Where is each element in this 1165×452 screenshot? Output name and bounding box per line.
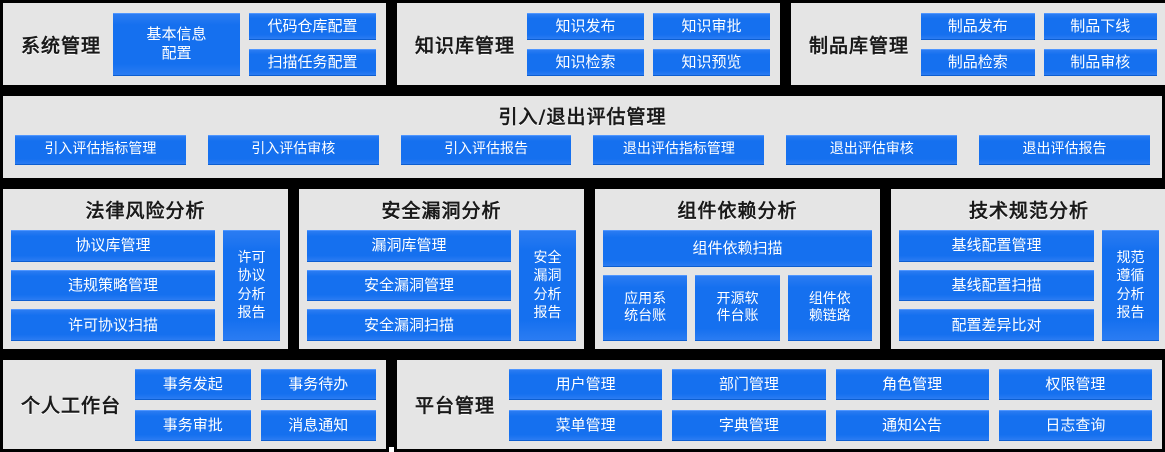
panel-artifact-repository-management: 制品库管理 制品发布 制品检索 制品下线 制品审核	[788, 0, 1165, 88]
button-column-workbench-1: 事务发起 事务审批	[135, 369, 251, 441]
button-column-platform-2: 部门管理 字典管理	[672, 369, 825, 441]
button-user-management[interactable]: 用户管理	[509, 369, 662, 400]
button-intro-eval-report[interactable]: 引入评估报告	[401, 135, 572, 165]
panel-intro-exit-evaluation-management: 引入/退出评估管理 引入评估指标管理 引入评估审核 引入评估报告 退出评估指标管…	[0, 93, 1165, 181]
button-column-system-management: 代码仓库配置 扫描任务配置	[249, 13, 376, 76]
button-task-approval[interactable]: 事务审批	[135, 410, 251, 441]
button-column-platform-3: 角色管理 通知公告	[836, 369, 989, 441]
button-column-artifact-1: 制品发布 制品检索	[921, 13, 1035, 76]
button-knowledge-approval[interactable]: 知识审批	[653, 13, 770, 40]
button-group-system-management: 基本信息 配置 代码仓库配置 扫描任务配置	[113, 13, 376, 76]
button-column-platform-4: 权限管理 日志查询	[999, 369, 1152, 441]
button-group-legal-risk: 协议库管理 违规策略管理 许可协议扫描	[11, 230, 215, 341]
button-group-personal-workbench: 事务发起 事务审批 事务待办 消息通知	[135, 369, 376, 441]
side-security-vulnerability: 安全 漏洞 分析 报告	[519, 230, 576, 341]
button-group-security-vulnerability: 漏洞库管理 安全漏洞管理 安全漏洞扫描	[307, 230, 511, 341]
button-exit-eval-report[interactable]: 退出评估报告	[979, 135, 1150, 165]
button-component-dependency-scan[interactable]: 组件依赖扫描	[603, 230, 872, 267]
button-dictionary-management[interactable]: 字典管理	[672, 410, 825, 441]
button-security-vulnerability-management[interactable]: 安全漏洞管理	[307, 270, 511, 302]
button-intro-eval-review[interactable]: 引入评估审核	[208, 135, 379, 165]
panel-platform-management: 平台管理 用户管理 菜单管理 部门管理 字典管理 角色管理 通知公告 权限管理 …	[394, 357, 1165, 452]
panel-security-vulnerability-analysis: 安全漏洞分析 漏洞库管理 安全漏洞管理 安全漏洞扫描 安全 漏洞 分析 报告	[296, 186, 587, 352]
button-specification-compliance-analysis-report[interactable]: 规范 遵循 分析 报告	[1102, 230, 1159, 341]
button-permission-management[interactable]: 权限管理	[999, 369, 1152, 400]
button-group-platform-management: 用户管理 菜单管理 部门管理 字典管理 角色管理 通知公告 权限管理 日志查询	[509, 369, 1152, 441]
button-role-management[interactable]: 角色管理	[836, 369, 989, 400]
panel-personal-workbench: 个人工作台 事务发起 事务审批 事务待办 消息通知	[0, 357, 389, 452]
button-artifact-audit[interactable]: 制品审核	[1044, 49, 1158, 76]
button-group-component-ledgers: 应用系 统台账 开源软 件台账 组件依 赖链路	[603, 275, 872, 341]
panel-title-intro-exit-evaluation-management: 引入/退出评估管理	[11, 102, 1154, 129]
panel-technical-specification-analysis: 技术规范分析 基线配置管理 基线配置扫描 配置差异比对 规范 遵循 分析 报告	[888, 186, 1165, 352]
button-baseline-config-management[interactable]: 基线配置管理	[899, 230, 1094, 262]
button-artifact-publish[interactable]: 制品发布	[921, 13, 1035, 40]
panel-knowledge-base-management: 知识库管理 知识发布 知识检索 知识审批 知识预览	[394, 0, 783, 88]
body-component-dependency-analysis: 组件依赖扫描 应用系 统台账 开源软 件台账 组件依 赖链路	[603, 230, 872, 341]
button-license-analysis-report[interactable]: 许可 协议 分析 报告	[223, 230, 280, 341]
button-column-knowledge-1: 知识发布 知识检索	[527, 13, 644, 76]
panel-title-security-vulnerability-analysis: 安全漏洞分析	[307, 196, 576, 223]
button-menu-management[interactable]: 菜单管理	[509, 410, 662, 441]
button-security-vulnerability-scan[interactable]: 安全漏洞扫描	[307, 309, 511, 341]
button-knowledge-publish[interactable]: 知识发布	[527, 13, 644, 40]
row-analysis: 法律风险分析 协议库管理 违规策略管理 许可协议扫描 许可 协议 分析 报告 安…	[0, 186, 1165, 352]
button-task-todo[interactable]: 事务待办	[261, 369, 377, 400]
button-department-management[interactable]: 部门管理	[672, 369, 825, 400]
button-group-intro-exit-evaluation: 引入评估指标管理 引入评估审核 引入评估报告 退出评估指标管理 退出评估审核 退…	[11, 135, 1154, 165]
button-security-vulnerability-analysis-report[interactable]: 安全 漏洞 分析 报告	[519, 230, 576, 341]
body-legal-risk-analysis: 协议库管理 违规策略管理 许可协议扫描 许可 协议 分析 报告	[11, 230, 280, 341]
button-task-initiate[interactable]: 事务发起	[135, 369, 251, 400]
button-knowledge-preview[interactable]: 知识预览	[653, 49, 770, 76]
button-column-artifact-2: 制品下线 制品审核	[1044, 13, 1158, 76]
button-artifact-offline[interactable]: 制品下线	[1044, 13, 1158, 40]
button-column-platform-1: 用户管理 菜单管理	[509, 369, 662, 441]
panel-title-legal-risk-analysis: 法律风险分析	[11, 196, 280, 223]
button-group-knowledge-base-management: 知识发布 知识检索 知识审批 知识预览	[527, 13, 770, 76]
button-column-workbench-2: 事务待办 消息通知	[261, 369, 377, 441]
button-open-source-software-ledger[interactable]: 开源软 件台账	[695, 275, 779, 341]
button-log-query[interactable]: 日志查询	[999, 410, 1152, 441]
button-notification-announcement[interactable]: 通知公告	[836, 410, 989, 441]
side-technical-specification: 规范 遵循 分析 报告	[1102, 230, 1159, 341]
button-vulnerability-library-management[interactable]: 漏洞库管理	[307, 230, 511, 262]
side-legal-risk: 许可 协议 分析 报告	[223, 230, 280, 341]
panel-title-platform-management: 平台管理	[415, 391, 495, 418]
panel-legal-risk-analysis: 法律风险分析 协议库管理 违规策略管理 许可协议扫描 许可 协议 分析 报告	[0, 186, 291, 352]
panel-title-component-dependency-analysis: 组件依赖分析	[603, 196, 872, 223]
button-exit-eval-index-management[interactable]: 退出评估指标管理	[593, 135, 764, 165]
button-scan-task-config[interactable]: 扫描任务配置	[249, 49, 376, 76]
button-violation-policy-management[interactable]: 违规策略管理	[11, 270, 215, 302]
button-column-knowledge-2: 知识审批 知识预览	[653, 13, 770, 76]
button-group-technical-specification: 基线配置管理 基线配置扫描 配置差异比对	[899, 230, 1094, 341]
panel-title-artifact-repository-management: 制品库管理	[809, 31, 909, 58]
button-code-repo-config[interactable]: 代码仓库配置	[249, 13, 376, 40]
panel-title-system-management: 系统管理	[21, 31, 101, 58]
body-security-vulnerability-analysis: 漏洞库管理 安全漏洞管理 安全漏洞扫描 安全 漏洞 分析 报告	[307, 230, 576, 341]
button-intro-eval-index-management[interactable]: 引入评估指标管理	[15, 135, 186, 165]
button-application-system-ledger[interactable]: 应用系 统台账	[603, 275, 687, 341]
row-top: 系统管理 基本信息 配置 代码仓库配置 扫描任务配置 知识库管理 知识发布 知识…	[0, 0, 1165, 88]
system-module-map: 系统管理 基本信息 配置 代码仓库配置 扫描任务配置 知识库管理 知识发布 知识…	[0, 0, 1165, 447]
panel-title-personal-workbench: 个人工作台	[21, 391, 121, 418]
button-component-dependency-chain[interactable]: 组件依 赖链路	[788, 275, 872, 341]
button-license-agreement-scan[interactable]: 许可协议扫描	[11, 309, 215, 341]
button-group-artifact-repository-management: 制品发布 制品检索 制品下线 制品审核	[921, 13, 1157, 76]
row-bottom: 个人工作台 事务发起 事务审批 事务待办 消息通知 平台管理 用户管理 菜单管理	[0, 357, 1165, 452]
panel-title-technical-specification-analysis: 技术规范分析	[899, 196, 1159, 223]
button-exit-eval-review[interactable]: 退出评估审核	[786, 135, 957, 165]
button-config-difference-comparison[interactable]: 配置差异比对	[899, 309, 1094, 341]
button-knowledge-search[interactable]: 知识检索	[527, 49, 644, 76]
button-artifact-search[interactable]: 制品检索	[921, 49, 1035, 76]
button-license-library-management[interactable]: 协议库管理	[11, 230, 215, 262]
button-baseline-config-scan[interactable]: 基线配置扫描	[899, 270, 1094, 302]
button-message-notification[interactable]: 消息通知	[261, 410, 377, 441]
body-technical-specification-analysis: 基线配置管理 基线配置扫描 配置差异比对 规范 遵循 分析 报告	[899, 230, 1159, 341]
panel-title-knowledge-base-management: 知识库管理	[415, 31, 515, 58]
panel-component-dependency-analysis: 组件依赖分析 组件依赖扫描 应用系 统台账 开源软 件台账 组件依 赖链路	[592, 186, 883, 352]
panel-system-management: 系统管理 基本信息 配置 代码仓库配置 扫描任务配置	[0, 0, 389, 88]
button-basic-info-config[interactable]: 基本信息 配置	[113, 13, 240, 76]
